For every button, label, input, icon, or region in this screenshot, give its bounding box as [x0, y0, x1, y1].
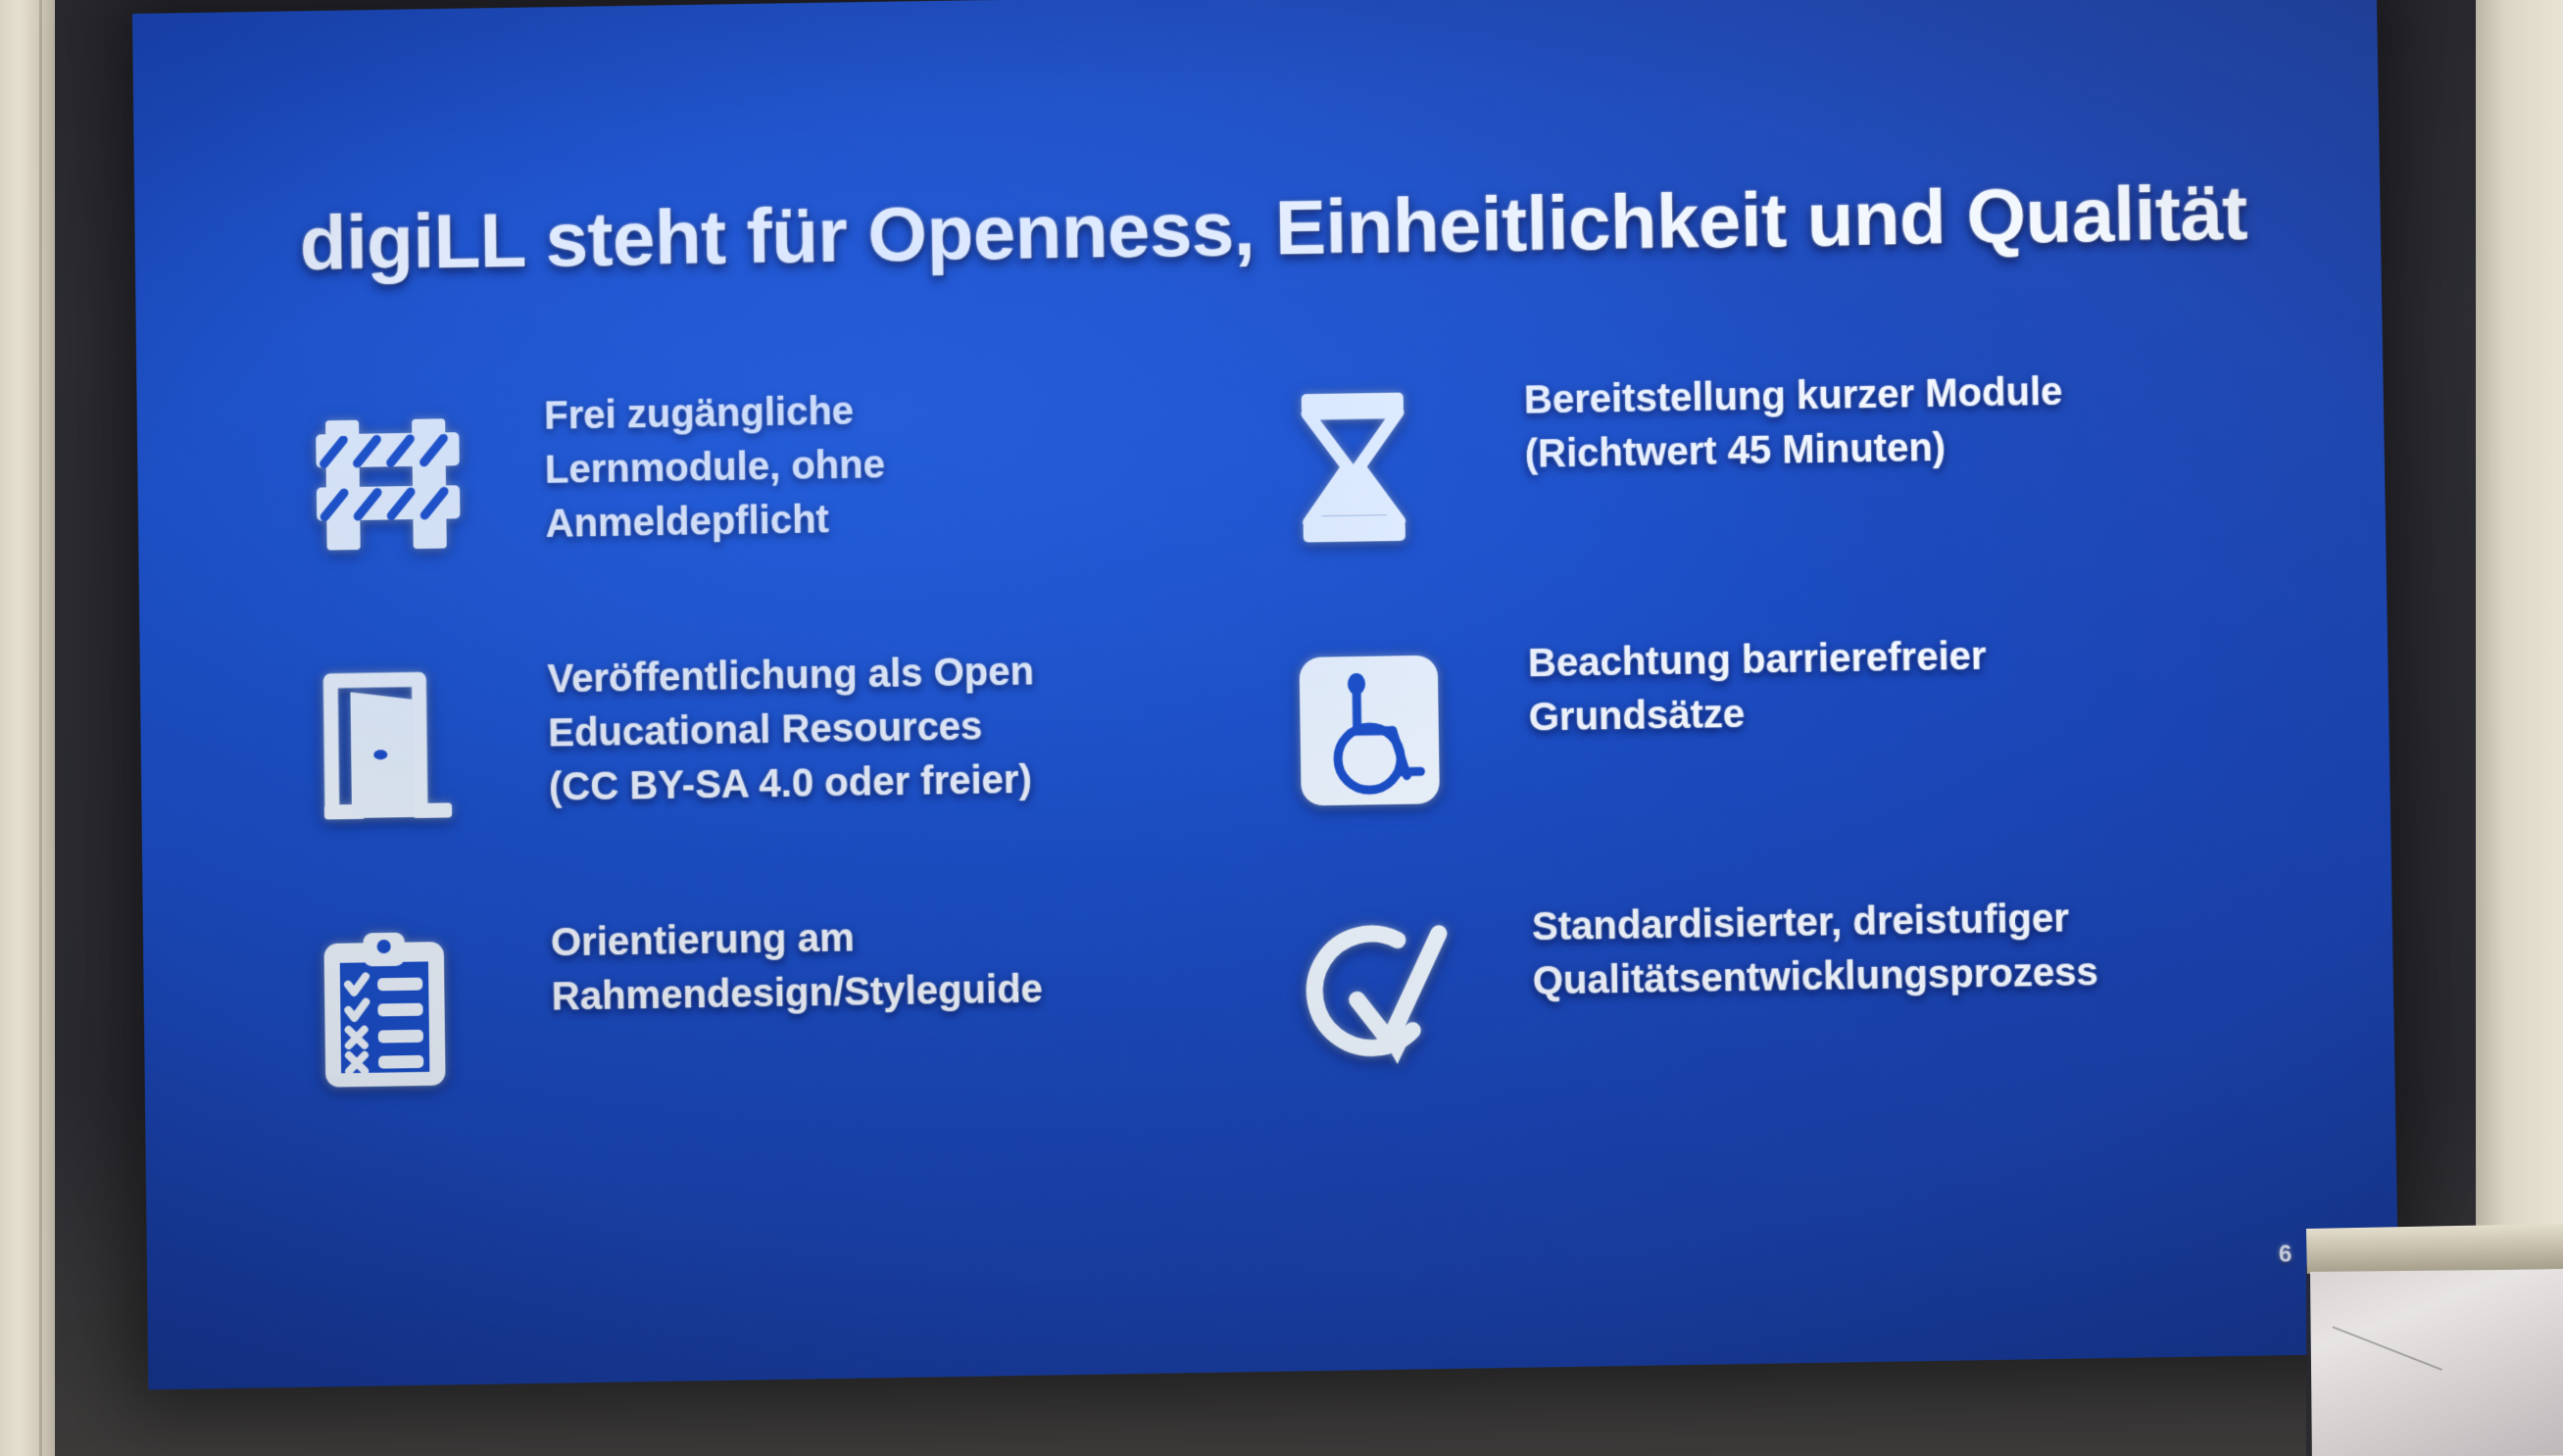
wall-seam — [39, 0, 42, 1456]
projected-slide-area: digiLL steht für Openness, Einheitlichke… — [132, 0, 2399, 1389]
feature-item-qualitaetsprozess: Standardisierter, dreistufiger Qualitäts… — [1301, 871, 2286, 1150]
feature-text: Orientierung am Rahmendesign/Styleguide — [550, 887, 1302, 1024]
flipchart-easel — [2306, 1223, 2563, 1456]
feature-line: Grundsätze — [1528, 679, 2279, 745]
feature-line: Anmeldepflicht — [545, 485, 1296, 551]
projection-photo: digiLL steht für Openness, Einheitlichke… — [0, 0, 2563, 1456]
feature-item-veroeffentlichung: Veröffentlichung als Open Educational Re… — [317, 623, 1301, 902]
feature-text: Bereitstellung kurzer Module (Richtwert … — [1523, 344, 2275, 481]
feature-item-frei-zugaengliche: Frei zugängliche Lernmodule, ohne Anmeld… — [313, 360, 1297, 639]
slide-page-number: 6 — [2279, 1240, 2292, 1268]
feature-text: Beachtung barrierefreier Grundsätze — [1527, 607, 2279, 745]
wall-left — [0, 0, 55, 1456]
open-door-icon — [317, 671, 456, 821]
feature-text: Standardisierter, dreistufiger Qualitäts… — [1531, 871, 2284, 1008]
icon-slot — [320, 898, 553, 1109]
feature-line: (CC BY-SA 4.0 oder freier) — [549, 749, 1300, 814]
feature-text: Frei zugängliche Lernmodule, ohne Anmeld… — [544, 360, 1296, 551]
feature-line: Qualitätsentwicklungsprozess — [1532, 943, 2283, 1008]
feature-item-barrierefreiheit: Beachtung barrierefreier Grundsätze — [1297, 607, 2282, 887]
flipchart-fold-line — [2333, 1326, 2442, 1371]
icon-slot — [313, 372, 546, 582]
wheelchair-accessibility-icon — [1297, 653, 1441, 807]
icon-slot — [1297, 619, 1530, 829]
circular-arrow-check-icon — [1301, 913, 1455, 1073]
feature-line: Rahmendesign/Styleguide — [551, 958, 1302, 1024]
feature-text: Veröffentlichung als Open Educational Re… — [547, 623, 1300, 814]
flipchart-top-bar — [2306, 1224, 2563, 1274]
hourglass-icon — [1294, 390, 1413, 544]
feature-item-bereitstellung: Bereitstellung kurzer Module (Richtwert … — [1293, 344, 2277, 623]
icon-slot — [1293, 357, 1526, 566]
road-barrier-icon — [314, 413, 463, 553]
feature-item-orientierung: Orientierung am Rahmendesign/Styleguide — [320, 887, 1305, 1166]
icon-slot — [317, 635, 550, 845]
presentation-slide: digiLL steht für Openness, Einheitlichke… — [132, 0, 2399, 1389]
icon-slot — [1301, 883, 1535, 1093]
feature-line: (Richtwert 45 Minuten) — [1524, 415, 2274, 481]
slide-title: digiLL steht für Openness, Einheitlichke… — [299, 172, 2242, 285]
flipchart-paper — [2310, 1269, 2563, 1456]
feature-grid: Frei zugängliche Lernmodule, ohne Anmeld… — [136, 342, 2395, 1169]
clipboard-checklist-icon — [320, 930, 449, 1090]
